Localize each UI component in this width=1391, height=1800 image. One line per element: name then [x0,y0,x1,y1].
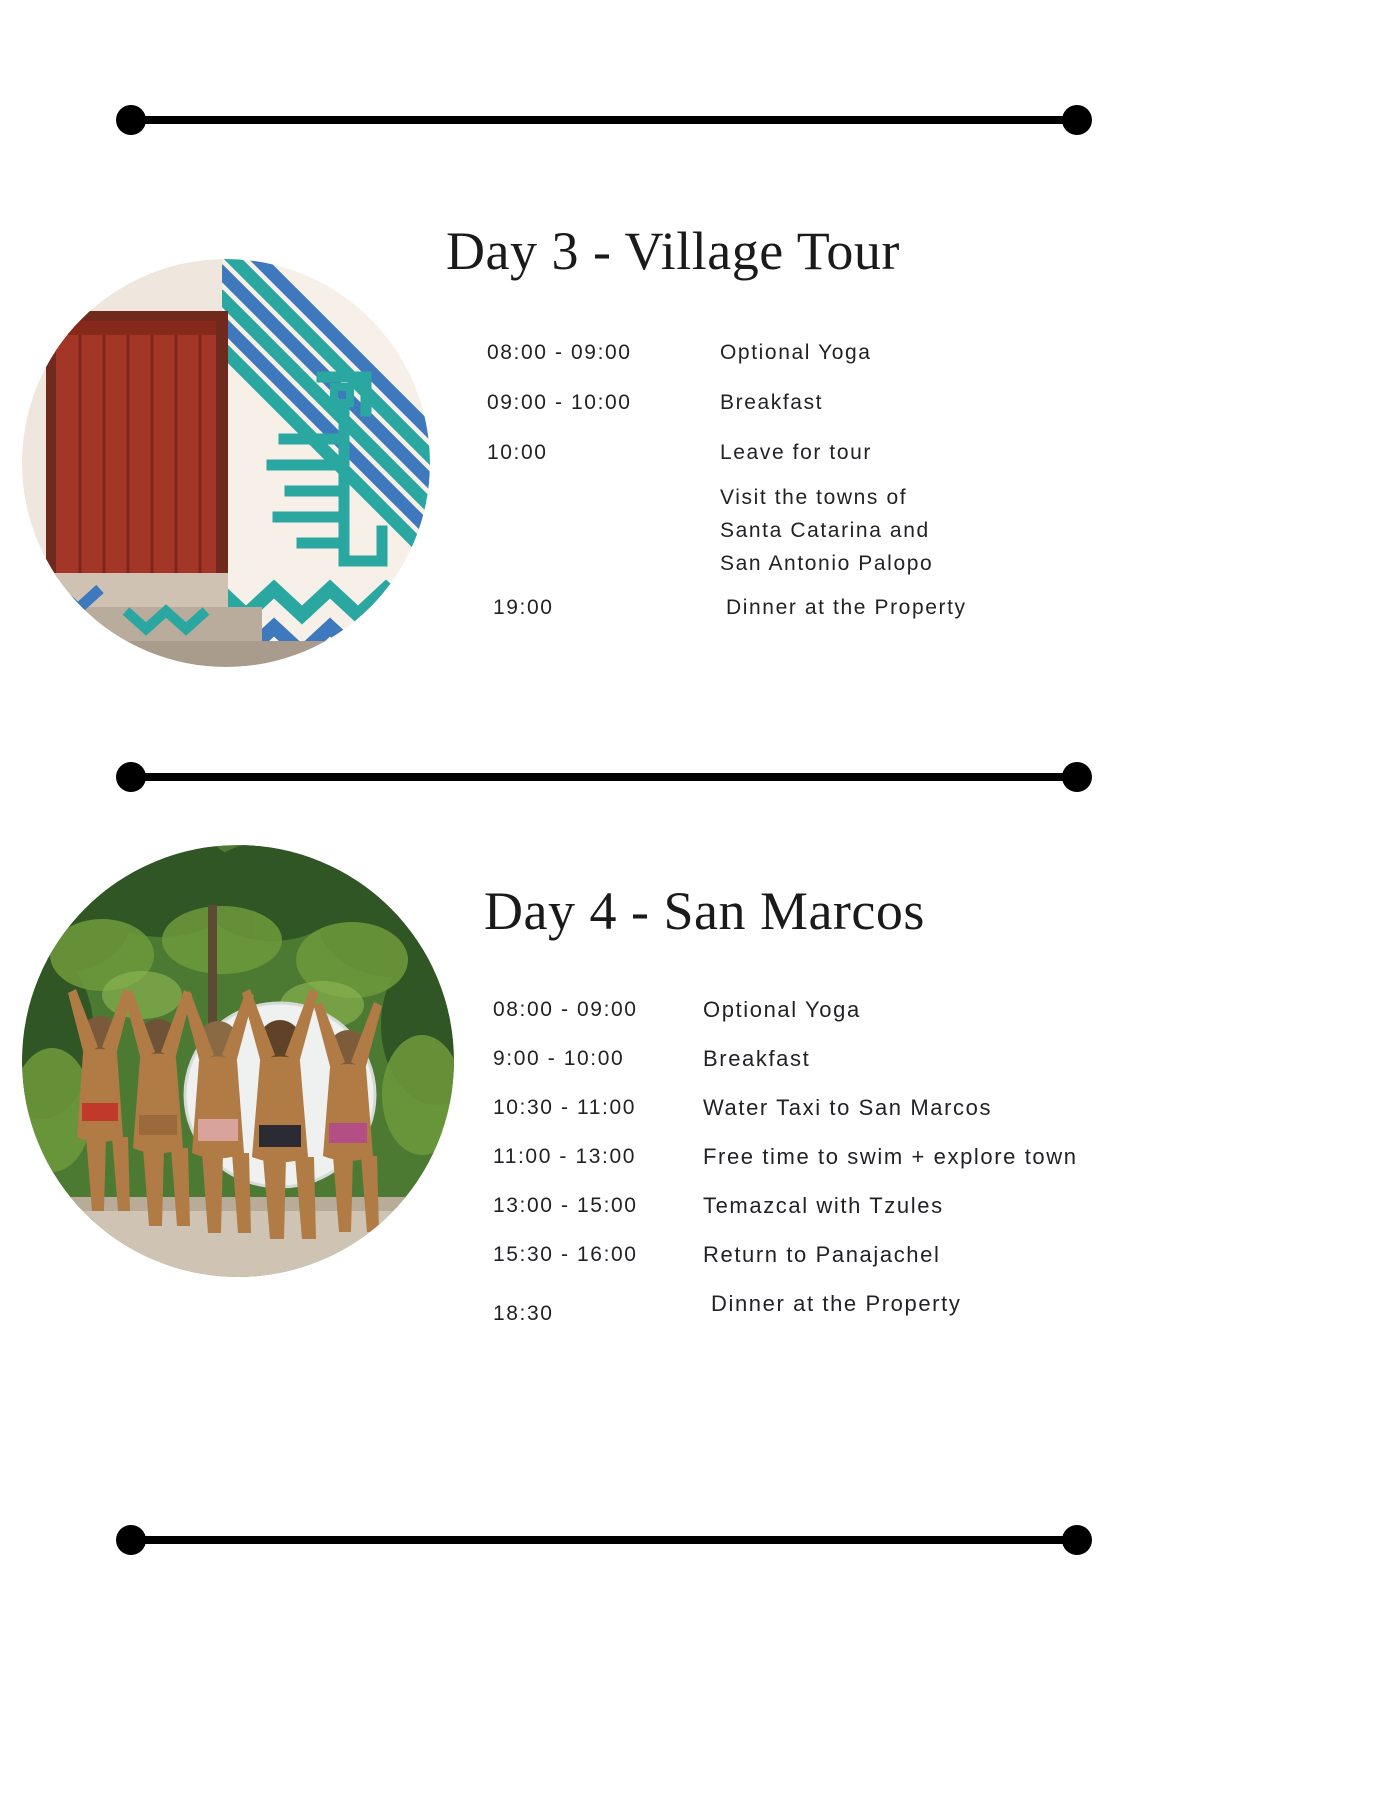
schedule-activity: Breakfast [720,385,823,421]
itinerary-page: Day 3 - Village Tour 08:00 - 09:00 Optio… [0,0,1391,1800]
schedule-day4: 08:00 - 09:00 Optional Yoga 9:00 - 10:00… [493,995,1078,1338]
schedule-time: 18:30 [493,1299,703,1329]
schedule-row: 08:00 - 09:00 Optional Yoga [487,335,967,371]
schedule-activity: Return to Panajachel [703,1240,940,1270]
schedule-row: 13:00 - 15:00 Temazcal with Tzules [493,1191,1078,1221]
schedule-time: 10:00 [487,435,720,471]
schedule-row-description: Visit the towns of Santa Catarina and Sa… [487,481,967,580]
schedule-time: 15:30 - 16:00 [493,1240,703,1270]
schedule-activity: Optional Yoga [720,335,872,371]
divider-dot-right-icon [1062,105,1092,135]
schedule-day3: 08:00 - 09:00 Optional Yoga 09:00 - 10:0… [487,335,967,640]
schedule-time: 09:00 - 10:00 [487,385,720,421]
schedule-row: 9:00 - 10:00 Breakfast [493,1044,1078,1074]
schedule-time: 08:00 - 09:00 [493,995,703,1025]
schedule-row: 18:30 Dinner at the Property [493,1289,1078,1319]
schedule-activity: Water Taxi to San Marcos [703,1093,992,1123]
divider-middle [116,762,1092,792]
divider-dot-right-icon [1062,1525,1092,1555]
schedule-row: 08:00 - 09:00 Optional Yoga [493,995,1078,1025]
schedule-time: 08:00 - 09:00 [487,335,720,371]
divider-bar [130,116,1078,124]
schedule-time: 19:00 [487,590,726,626]
photo-day3-village-mural [22,259,430,667]
schedule-row: 15:30 - 16:00 Return to Panajachel [493,1240,1078,1270]
schedule-activity: Breakfast [703,1044,810,1074]
divider-bar [130,773,1078,781]
schedule-time: 9:00 - 10:00 [493,1044,703,1074]
schedule-activity: Dinner at the Property [703,1289,961,1319]
schedule-activity: Dinner at the Property [726,590,967,626]
schedule-time: 10:30 - 11:00 [493,1093,703,1123]
schedule-activity: Free time to swim + explore town [703,1142,1078,1172]
schedule-activity: Temazcal with Tzules [703,1191,944,1221]
divider-top [116,105,1092,135]
schedule-time: 13:00 - 15:00 [493,1191,703,1221]
schedule-time: 11:00 - 13:00 [493,1142,703,1172]
photo-day4-temazcal-group [22,845,454,1277]
divider-bar [130,1536,1078,1544]
schedule-activity: Leave for tour [720,435,872,471]
divider-dot-right-icon [1062,762,1092,792]
divider-bottom [116,1525,1092,1555]
temazcal-group-illustration [22,845,454,1277]
schedule-row: 19:00 Dinner at the Property [487,590,967,626]
village-mural-illustration [22,259,430,667]
page-title-day3: Day 3 - Village Tour [446,220,900,282]
schedule-row: 09:00 - 10:00 Breakfast [487,385,967,421]
schedule-row: 10:30 - 11:00 Water Taxi to San Marcos [493,1093,1078,1123]
schedule-row: 11:00 - 13:00 Free time to swim + explor… [493,1142,1078,1172]
schedule-activity: Optional Yoga [703,995,861,1025]
page-title-day4: Day 4 - San Marcos [484,880,925,942]
schedule-row: 10:00 Leave for tour [487,435,967,471]
schedule-activity: Visit the towns of Santa Catarina and Sa… [720,481,933,580]
